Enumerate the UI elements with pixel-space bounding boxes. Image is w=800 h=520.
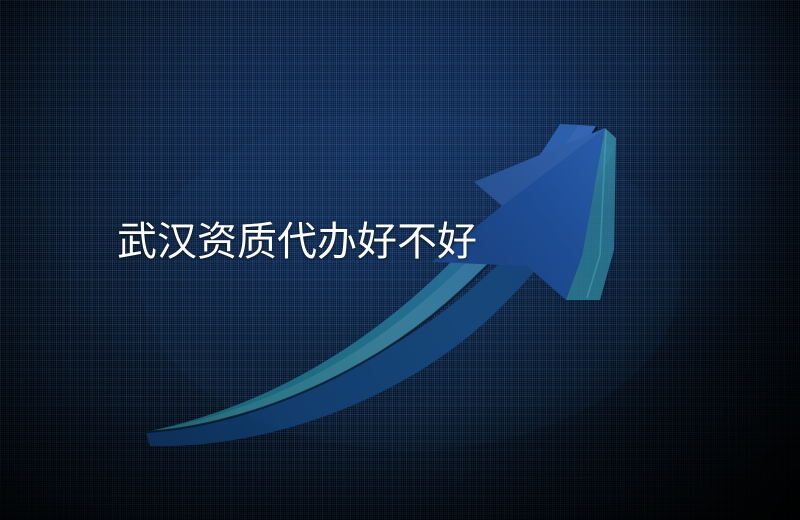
arrow-bloom bbox=[140, 110, 680, 450]
page-title: 武汉资质代办好不好 bbox=[117, 218, 477, 266]
banner-image: 武汉资质代办好不好 bbox=[0, 0, 800, 520]
